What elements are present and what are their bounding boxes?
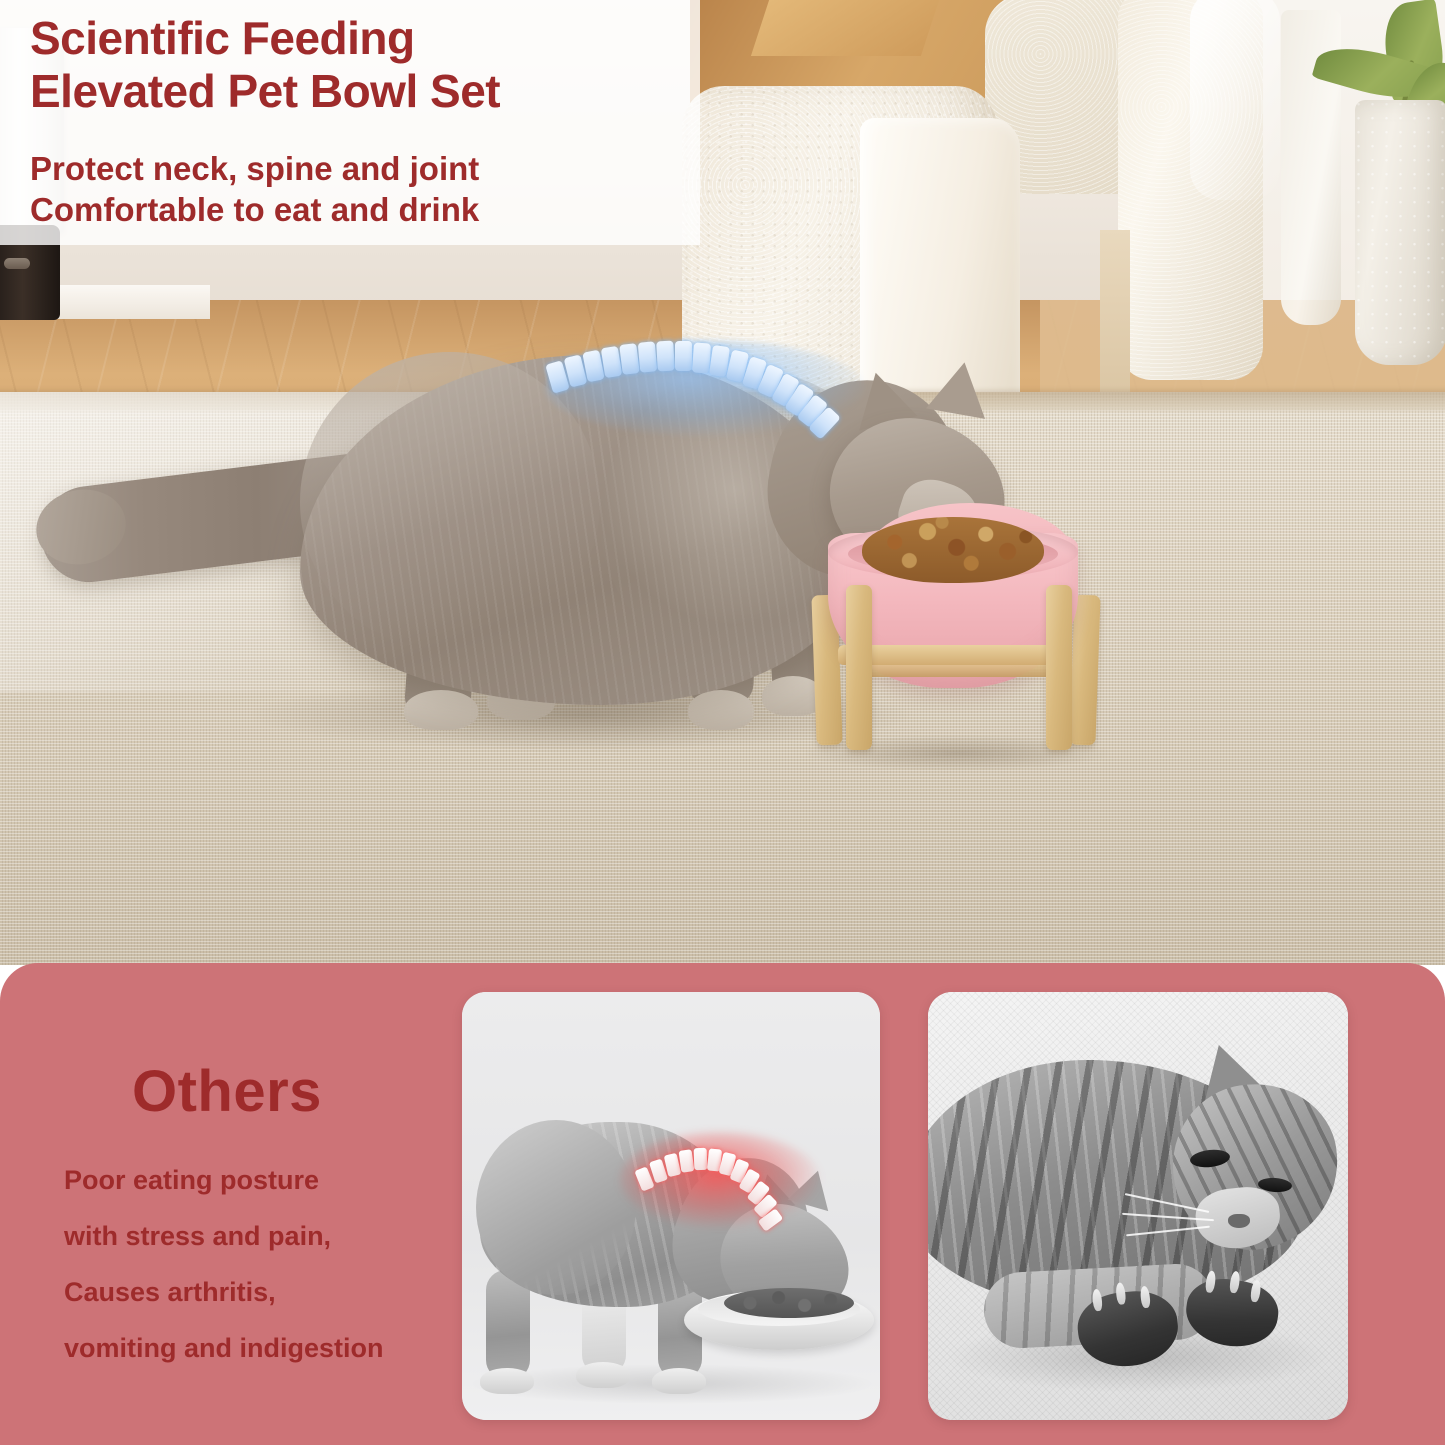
card-bad-posture [462, 992, 880, 1420]
subtitle-line-1: Protect neck, spine and joint [30, 148, 479, 189]
stand-rail [846, 665, 1061, 677]
kitten-paw [652, 1368, 706, 1394]
vertebra-icon [692, 342, 711, 373]
vertebra-icon [638, 341, 658, 372]
others-bullet-line: Causes arthritis, [64, 1264, 454, 1320]
stand-leg [846, 585, 872, 750]
product-poster: Scientific Feeding Elevated Pet Bowl Set… [0, 0, 1445, 1445]
kitten-paw [576, 1362, 630, 1388]
tabby-nose [1228, 1214, 1250, 1228]
page-title: Scientific Feeding Elevated Pet Bowl Set [30, 12, 500, 118]
vertebra-icon [675, 341, 692, 371]
claw-icon [1250, 1280, 1262, 1303]
others-bullet-line: Poor eating posture [64, 1152, 454, 1208]
subtitle-line-2: Comfortable to eat and drink [30, 189, 479, 230]
title-line-2: Elevated Pet Bowl Set [30, 65, 500, 118]
title-line-1: Scientific Feeding [30, 12, 500, 65]
hero-scene: Scientific Feeding Elevated Pet Bowl Set… [0, 0, 1445, 965]
kitten-rump [476, 1120, 636, 1295]
elevated-bowl-set [810, 495, 1110, 775]
cat-food-kibble [862, 517, 1044, 583]
stand-rail [838, 645, 1068, 665]
plate-food [724, 1288, 854, 1318]
others-heading: Others [132, 1058, 322, 1125]
card-tired-cat [928, 992, 1348, 1420]
others-bullet-line: vomiting and indigestion [64, 1320, 454, 1376]
stand-leg [1046, 585, 1072, 750]
cat-paw [688, 690, 754, 730]
others-bullet-line: with stress and pain, [64, 1208, 454, 1264]
others-bullet-list: Poor eating posture with stress and pain… [64, 1152, 454, 1376]
page-subtitle: Protect neck, spine and joint Comfortabl… [30, 148, 479, 230]
vertebra-icon [656, 341, 675, 372]
vertebra-icon [619, 343, 640, 375]
vertebra-icon [694, 1148, 708, 1170]
spine-highlight-healthy [545, 330, 865, 450]
kitten-paw [480, 1368, 534, 1394]
cat-ear [926, 357, 994, 419]
cat-paw [404, 690, 478, 730]
